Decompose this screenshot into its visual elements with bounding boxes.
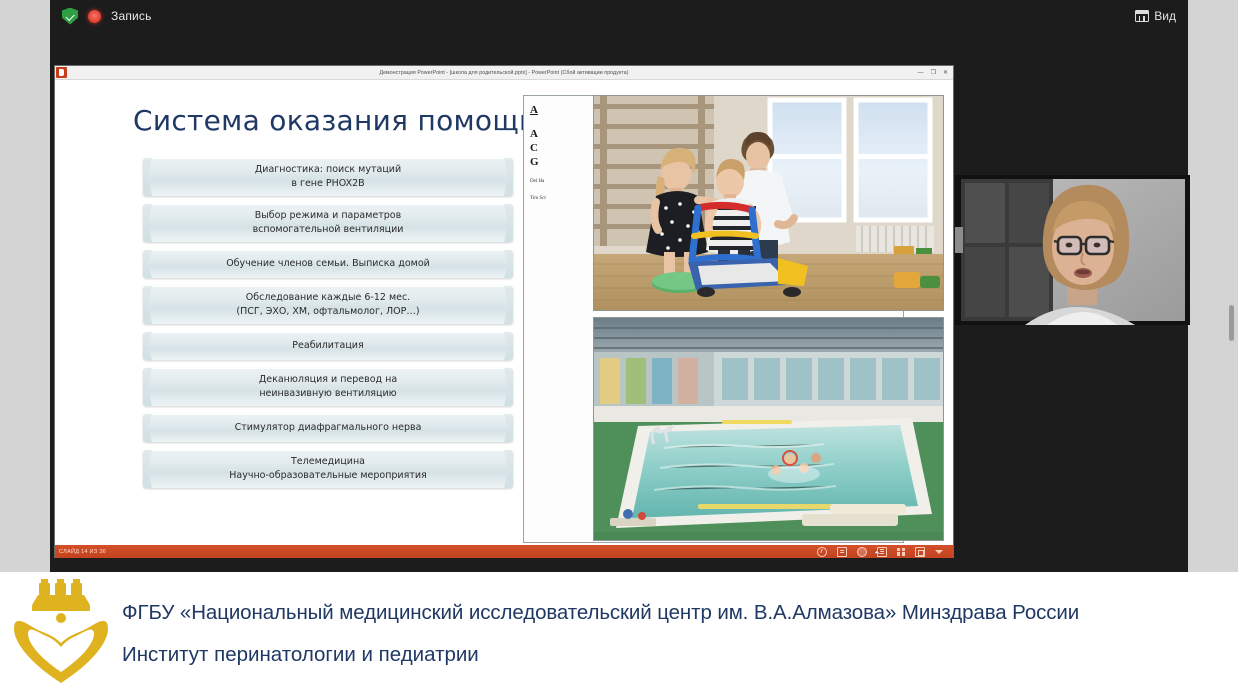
document-subheading-3: G <box>530 156 590 170</box>
process-step-8: Телемедицина Научно-образовательные меро… <box>143 450 513 488</box>
process-step-list: Диагностика: поиск мутаций в гене PHOX2B… <box>143 158 513 496</box>
banner-organization-name: ФГБУ «Национальный медицинский исследова… <box>122 601 1079 625</box>
process-step-7: Стимулятор диафрагмального нерва <box>143 414 513 442</box>
step-1-line-1: Диагностика: поиск мутаций <box>255 164 401 175</box>
step-1-line-2: в гене PHOX2B <box>291 178 364 189</box>
participant-video-frame <box>955 175 1190 325</box>
photo-therapy-session <box>594 96 943 310</box>
process-step-4: Обследование каждые 6-12 мес. (ПСГ, ЭХО,… <box>143 286 513 324</box>
banner-department-name: Институт перинатологии и педиатрии <box>122 643 1079 667</box>
meeting-top-bar: Запись Вид <box>50 0 1188 32</box>
record-dot-icon[interactable] <box>88 10 101 23</box>
document-text-column: A A C G Del Ha Tim Scr <box>530 104 590 202</box>
restore-button[interactable]: ❐ <box>931 70 936 76</box>
participant-video-thumbnail[interactable] <box>955 175 1190 325</box>
step-6-line-2: неинвазивную вентиляцию <box>259 388 396 399</box>
pen-icon[interactable] <box>817 547 827 557</box>
powerpoint-title-bar: Демонстрация PowerPoint - [школа для род… <box>55 66 953 80</box>
grid-view-icon <box>1135 10 1149 22</box>
more-options-icon[interactable] <box>935 548 943 556</box>
process-step-1: Диагностика: поиск мутаций в гене PHOX2B <box>143 158 513 196</box>
view-label: Вид <box>1154 9 1176 23</box>
step-3-line-1: Обучение членов семьи. Выписка домой <box>226 257 430 271</box>
recording-label: Запись <box>111 9 152 23</box>
step-4-line-1: Обследование каждые 6-12 мес. <box>246 292 410 303</box>
lower-third-banner: ФГБУ «Национальный медицинский исследова… <box>0 572 1238 695</box>
notes-icon[interactable] <box>837 547 847 557</box>
close-button[interactable]: ✕ <box>943 70 948 76</box>
slide-content: Система оказания помощи Диагностика: пои… <box>55 80 953 558</box>
photo-swimming-pool-image <box>594 318 943 540</box>
shield-check-icon[interactable] <box>62 8 78 25</box>
slide-canvas[interactable]: Система оказания помощи Диагностика: пои… <box>55 80 953 558</box>
shared-powerpoint-window: Демонстрация PowerPoint - [школа для род… <box>55 66 953 557</box>
step-8-line-2: Научно-образовательные мероприятия <box>229 470 427 481</box>
process-step-2: Выбор режима и параметров вспомогательно… <box>143 204 513 242</box>
logo-graphic <box>6 579 116 689</box>
slide-counter: СЛАЙД 14 ИЗ 36 <box>55 549 106 555</box>
document-small-text-1: Del Ha <box>530 178 590 186</box>
document-small-text-2: Tim Scr <box>530 195 590 203</box>
document-subheading-1: A <box>530 128 590 142</box>
presenter-toolbar <box>817 547 953 557</box>
step-4-line-2: (ПСГ, ЭХО, ХМ, офтальмолог, ЛОР…) <box>236 306 419 317</box>
slide-title: Система оказания помощи <box>133 104 538 137</box>
presenter-status-bar: СЛАЙД 14 ИЗ 36 <box>55 545 953 558</box>
grid-slides-icon[interactable] <box>897 548 905 556</box>
process-step-6: Деканюляция и перевод на неинвазивную ве… <box>143 368 513 406</box>
photo-swimming-pool <box>594 318 943 540</box>
powerpoint-window-title: Демонстрация PowerPoint - [школа для род… <box>55 70 953 76</box>
view-button[interactable]: Вид <box>1135 9 1176 23</box>
almazov-heart-crown-logo <box>6 579 116 689</box>
meeting-status-group: Запись <box>62 8 152 25</box>
process-step-3: Обучение членов семьи. Выписка домой <box>143 250 513 278</box>
powerpoint-icon <box>56 67 67 78</box>
window-controls: — ❐ ✕ <box>918 70 953 76</box>
step-5-line-1: Реабилитация <box>292 339 363 353</box>
zoom-icon[interactable] <box>915 547 925 557</box>
photo-therapy-session-image <box>594 96 943 310</box>
process-step-5: Реабилитация <box>143 332 513 360</box>
meeting-stage: Запись Вид Демонстрация PowerPoint - [шк… <box>50 0 1188 572</box>
scrollbar-thumb[interactable] <box>1229 305 1234 341</box>
minimize-button[interactable]: — <box>918 70 924 76</box>
step-7-line-1: Стимулятор диафрагмального нерва <box>235 421 422 435</box>
step-2-line-2: вспомогательной вентиляции <box>253 224 404 235</box>
banner-text-block: ФГБУ «Национальный медицинский исследова… <box>122 601 1079 667</box>
document-heading: A <box>530 104 590 116</box>
step-6-line-1: Деканюляция и перевод на <box>259 374 397 385</box>
document-subheading-2: C <box>530 142 590 156</box>
application-root: Запись Вид Демонстрация PowerPoint - [шк… <box>0 0 1238 695</box>
laser-pointer-icon[interactable] <box>857 547 867 557</box>
step-8-line-1: Телемедицина <box>291 456 365 467</box>
step-2-line-1: Выбор режима и параметров <box>255 210 401 221</box>
